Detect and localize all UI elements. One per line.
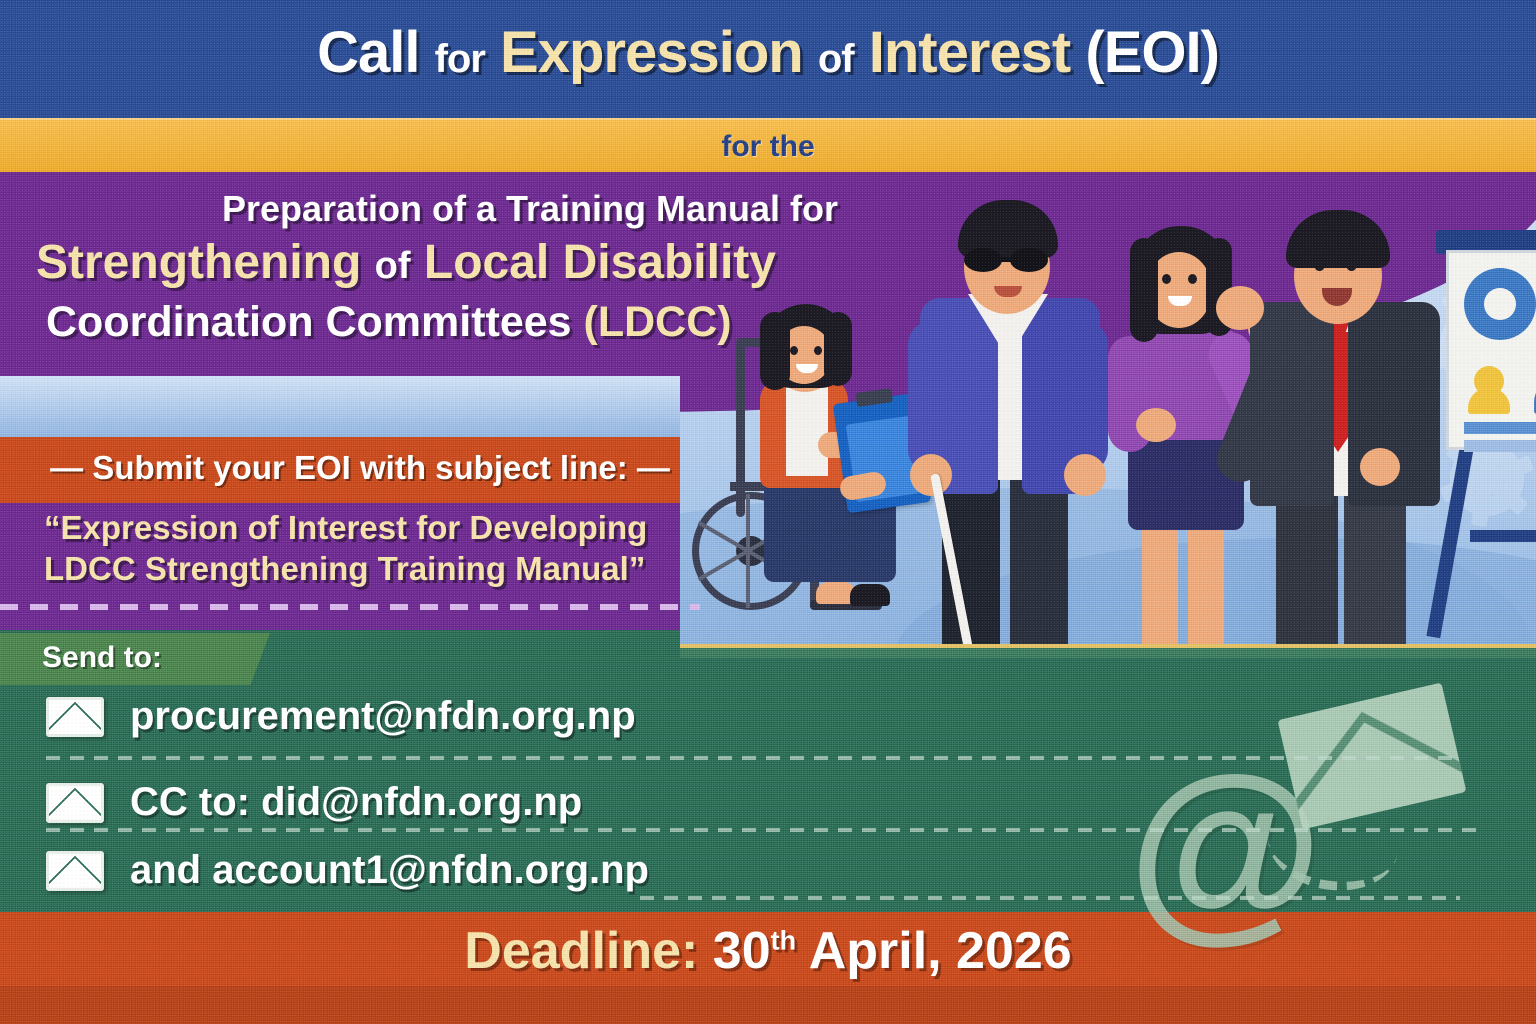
- subject-line-text: “Expression of Interest for Developing L…: [44, 508, 744, 590]
- flipchart-easel: [1440, 230, 1536, 640]
- subtitle-strengthening: Strengthening: [36, 236, 361, 289]
- deadline-rest: April, 2026: [809, 922, 1072, 980]
- deadline-day: 30: [713, 922, 771, 980]
- subtitle-line-3: Coordination Committees (LDCC): [46, 300, 1046, 346]
- email-row-account[interactable]: and account1@nfdn.org.np: [46, 848, 649, 893]
- male-presenter: [1220, 202, 1470, 658]
- submit-banner: — Submit your EOI with subject line: —: [0, 449, 720, 487]
- gear-icon: [1464, 268, 1536, 340]
- title-part-call: Call: [317, 20, 419, 85]
- envelope-icon: [46, 697, 104, 737]
- page-title: Call for Expression of Interest (EOI): [0, 24, 1536, 82]
- poster-root: Call for Expression of Interest (EOI) fo…: [0, 0, 1536, 1024]
- email-address-cc[interactable]: CC to: did@nfdn.org.np: [130, 780, 582, 825]
- deadline-ordinal: th: [771, 926, 797, 956]
- title-part-interest: Interest: [869, 20, 1071, 85]
- email-row-primary[interactable]: procurement@nfdn.org.np: [46, 694, 636, 739]
- send-to-label: Send to:: [42, 641, 162, 675]
- divider-dashed-purple: [0, 604, 700, 610]
- email-row-cc[interactable]: CC to: did@nfdn.org.np: [46, 780, 582, 825]
- subtitle-ldcc: (LDCC): [584, 298, 732, 346]
- subtitle-line-1: Preparation of a Training Manual for: [40, 188, 1020, 230]
- deadline-label: Deadline:: [464, 922, 698, 980]
- title-part-for: for: [435, 37, 485, 81]
- for-the-label: for the: [0, 130, 1536, 164]
- title-part-of: of: [818, 37, 854, 81]
- people-group-icon: [1468, 354, 1536, 412]
- email-address-primary[interactable]: procurement@nfdn.org.np: [130, 694, 636, 739]
- stage-ground: [680, 644, 1536, 658]
- divider-dashed-green-2: [46, 828, 1476, 832]
- subtitle-of: of: [375, 245, 411, 287]
- divider-dashed-green-3: [640, 896, 1460, 900]
- title-part-eoi: (EOI): [1085, 20, 1219, 85]
- subtitle-coordination-committees: Coordination Committees: [46, 298, 572, 346]
- deadline-text: Deadline: 30th April, 2026: [0, 921, 1536, 981]
- subtitle-local-disability: Local Disability: [424, 236, 776, 289]
- title-part-expression: Expression: [500, 20, 803, 85]
- envelope-icon: [46, 783, 104, 823]
- email-address-account[interactable]: and account1@nfdn.org.np: [130, 848, 649, 893]
- envelope-icon: [46, 851, 104, 891]
- subtitle-line-2: Strengthening of Local Disability: [36, 238, 1036, 289]
- send-to-tab: Send to:: [0, 633, 270, 685]
- divider-dashed-green-1: [46, 756, 1456, 760]
